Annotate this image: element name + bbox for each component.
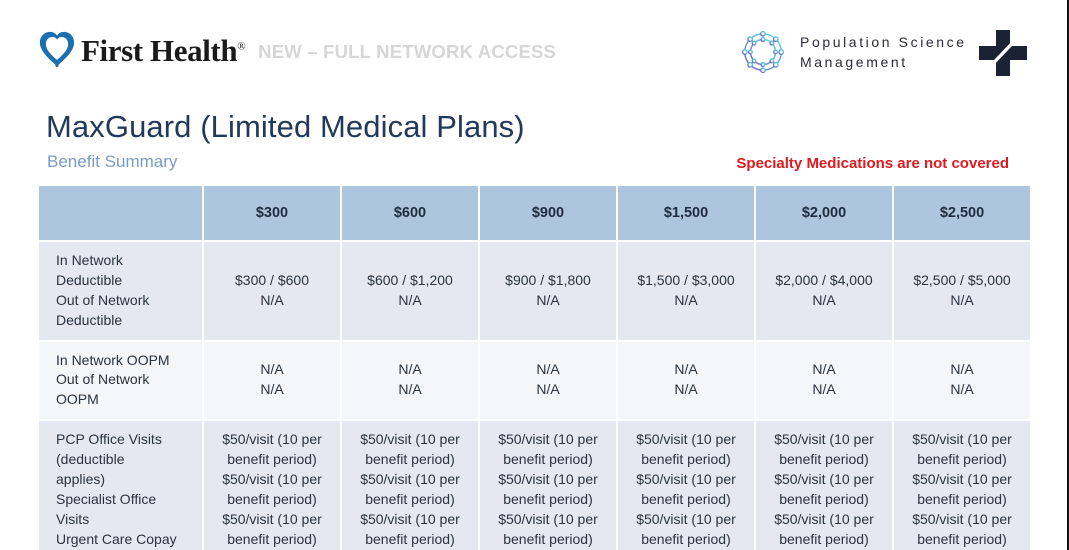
benefit-value-line: benefit period)	[210, 530, 334, 550]
column-header-6: $2,500	[894, 186, 1030, 240]
benefit-value-line: benefit period)	[210, 450, 334, 470]
benefit-value-line: N/A	[624, 380, 748, 400]
benefit-value-line: $50/visit (10 per	[624, 510, 748, 530]
benefit-value-line: benefit period)	[900, 450, 1024, 470]
page-title: MaxGuard (Limited Medical Plans)	[46, 109, 525, 145]
benefit-value-cell: $2,500 / $5,000N/A	[894, 242, 1030, 340]
table-head: $300$600$900$1,500$2,000$2,500	[39, 186, 1030, 240]
benefit-summary-table: $300$600$900$1,500$2,000$2,500 In Networ…	[37, 184, 1032, 550]
row-label-line: applies)	[56, 470, 196, 490]
benefit-value-cell: $900 / $1,800N/A	[480, 242, 616, 340]
benefit-value-line: N/A	[900, 360, 1024, 380]
benefit-value-line: $300 / $600	[210, 271, 334, 291]
column-header-2: $600	[342, 186, 478, 240]
benefit-value-cell: $50/visit (10 perbenefit period)$50/visi…	[756, 421, 892, 550]
benefit-value-line: $50/visit (10 per	[486, 470, 610, 490]
partner-name-line2: Management	[800, 52, 967, 72]
benefit-value-line: $50/visit (10 per	[762, 510, 886, 530]
benefit-value-line: $50/visit (10 per	[624, 430, 748, 450]
header-banner: First Health® NEW – FULL NETWORK ACCESS	[0, 0, 1069, 92]
row-label-line: Urgent Care Copay	[56, 530, 196, 550]
first-health-logo: First Health® NEW – FULL NETWORK ACCESS	[38, 28, 556, 70]
population-science-logo: Population Science Management	[736, 26, 967, 78]
benefit-value-cell: $50/visit (10 perbenefit period)$50/visi…	[618, 421, 754, 550]
benefit-value-line: $50/visit (10 per	[762, 470, 886, 490]
benefit-value-line: benefit period)	[624, 530, 748, 550]
benefit-value-cell: N/AN/A	[342, 342, 478, 420]
benefit-value-cell: N/AN/A	[894, 342, 1030, 420]
benefit-value-line: $900 / $1,800	[486, 271, 610, 291]
banner-tagline: NEW – FULL NETWORK ACCESS	[258, 41, 556, 63]
first-health-wordmark: First Health®	[81, 35, 245, 66]
column-header-1: $300	[204, 186, 340, 240]
benefit-value-line: benefit period)	[900, 530, 1024, 550]
benefit-value-line: benefit period)	[624, 450, 748, 470]
row-label-line: In Network	[56, 251, 196, 271]
benefit-value-line: $50/visit (10 per	[900, 430, 1024, 450]
benefit-value-cell: $50/visit (10 perbenefit period)$50/visi…	[342, 421, 478, 550]
benefit-value-line: N/A	[486, 380, 610, 400]
benefit-value-cell: N/AN/A	[480, 342, 616, 420]
benefit-value-cell: $50/visit (10 perbenefit period)$50/visi…	[894, 421, 1030, 550]
row-label-cell: PCP Office Visits(deductibleapplies)Spec…	[39, 421, 202, 550]
table-body: In NetworkDeductibleOut of NetworkDeduct…	[39, 242, 1030, 550]
benefit-value-line: $50/visit (10 per	[210, 470, 334, 490]
benefit-value-line: $50/visit (10 per	[210, 510, 334, 530]
benefit-value-line: $2,500 / $5,000	[900, 271, 1024, 291]
benefit-value-line: benefit period)	[900, 490, 1024, 510]
benefit-value-line: N/A	[348, 360, 472, 380]
benefit-value-line: N/A	[486, 360, 610, 380]
benefit-value-line: N/A	[624, 360, 748, 380]
row-label-line: Visits	[56, 510, 196, 530]
slide-page: First Health® NEW – FULL NETWORK ACCESS	[0, 0, 1069, 550]
benefit-value-cell: $1,500 / $3,000N/A	[618, 242, 754, 340]
row-label-line: In Network OOPM	[56, 351, 196, 371]
benefit-value-line: $50/visit (10 per	[210, 430, 334, 450]
table-corner-cell	[39, 186, 202, 240]
benefit-value-line: N/A	[486, 291, 610, 311]
benefit-value-line: N/A	[900, 380, 1024, 400]
benefit-value-line: benefit period)	[624, 490, 748, 510]
table-header-row: $300$600$900$1,500$2,000$2,500	[39, 186, 1030, 240]
benefit-value-line: benefit period)	[210, 490, 334, 510]
benefit-value-line: N/A	[210, 380, 334, 400]
benefit-value-cell: N/AN/A	[204, 342, 340, 420]
population-science-wordmark: Population Science Management	[800, 32, 967, 73]
benefit-value-line: $600 / $1,200	[348, 271, 472, 291]
benefit-value-line: N/A	[210, 291, 334, 311]
benefit-value-line: $50/visit (10 per	[348, 470, 472, 490]
benefit-value-line: benefit period)	[348, 530, 472, 550]
benefit-value-line: benefit period)	[348, 450, 472, 470]
row-label-cell: In NetworkDeductibleOut of NetworkDeduct…	[39, 242, 202, 340]
benefit-value-line: $50/visit (10 per	[348, 510, 472, 530]
table-row: In Network OOPMOut of NetworkOOPMN/AN/AN…	[39, 342, 1030, 420]
heart-icon	[38, 30, 76, 68]
row-label-line: Specialist Office	[56, 490, 196, 510]
row-label-line: PCP Office Visits	[56, 430, 196, 450]
benefit-value-line: benefit period)	[486, 490, 610, 510]
row-label-cell: In Network OOPMOut of NetworkOOPM	[39, 342, 202, 420]
table-row: PCP Office Visits(deductibleapplies)Spec…	[39, 421, 1030, 550]
partner-name-line1: Population Science	[800, 32, 967, 52]
benefit-value-line: $50/visit (10 per	[348, 430, 472, 450]
row-label-line: Out of Network	[56, 291, 196, 311]
benefit-value-line: benefit period)	[486, 450, 610, 470]
benefit-value-cell: $300 / $600N/A	[204, 242, 340, 340]
benefit-value-line: benefit period)	[762, 490, 886, 510]
benefit-value-line: N/A	[348, 291, 472, 311]
benefit-value-line: $50/visit (10 per	[900, 510, 1024, 530]
page-subtitle: Benefit Summary	[47, 152, 177, 172]
benefit-value-cell: $2,000 / $4,000N/A	[756, 242, 892, 340]
benefit-value-line: N/A	[210, 360, 334, 380]
column-header-5: $2,000	[756, 186, 892, 240]
row-label-line: (deductible	[56, 450, 196, 470]
row-label-line: Deductible	[56, 311, 196, 331]
benefit-value-line: benefit period)	[348, 490, 472, 510]
benefit-value-line: $50/visit (10 per	[486, 510, 610, 530]
benefit-value-line: N/A	[900, 291, 1024, 311]
specialty-medications-warning: Specialty Medications are not covered	[736, 155, 1009, 172]
benefit-value-line: benefit period)	[762, 530, 886, 550]
benefit-value-line: $50/visit (10 per	[762, 430, 886, 450]
benefit-value-cell: N/AN/A	[756, 342, 892, 420]
benefit-value-line: $2,000 / $4,000	[762, 271, 886, 291]
benefit-value-line: benefit period)	[486, 530, 610, 550]
column-header-3: $900	[480, 186, 616, 240]
benefit-value-line: N/A	[762, 291, 886, 311]
benefit-value-line: $50/visit (10 per	[486, 430, 610, 450]
network-ring-icon	[736, 26, 790, 78]
row-label-line: Deductible	[56, 271, 196, 291]
benefit-value-line: $50/visit (10 per	[624, 470, 748, 490]
registered-mark: ®	[237, 40, 245, 52]
row-label-line: OOPM	[56, 390, 196, 410]
benefit-value-line: benefit period)	[762, 450, 886, 470]
benefit-value-cell: $600 / $1,200N/A	[342, 242, 478, 340]
medical-cross-icon	[977, 28, 1029, 78]
benefit-value-line: $50/visit (10 per	[900, 470, 1024, 490]
table-row: In NetworkDeductibleOut of NetworkDeduct…	[39, 242, 1030, 340]
benefit-value-line: $1,500 / $3,000	[624, 271, 748, 291]
benefit-value-line: N/A	[762, 380, 886, 400]
benefit-value-line: N/A	[348, 380, 472, 400]
benefit-value-cell: $50/visit (10 perbenefit period)$50/visi…	[204, 421, 340, 550]
row-label-line: Out of Network	[56, 370, 196, 390]
benefit-value-cell: N/AN/A	[618, 342, 754, 420]
column-header-4: $1,500	[618, 186, 754, 240]
benefit-value-cell: $50/visit (10 perbenefit period)$50/visi…	[480, 421, 616, 550]
benefit-value-line: N/A	[762, 360, 886, 380]
benefit-value-line: N/A	[624, 291, 748, 311]
